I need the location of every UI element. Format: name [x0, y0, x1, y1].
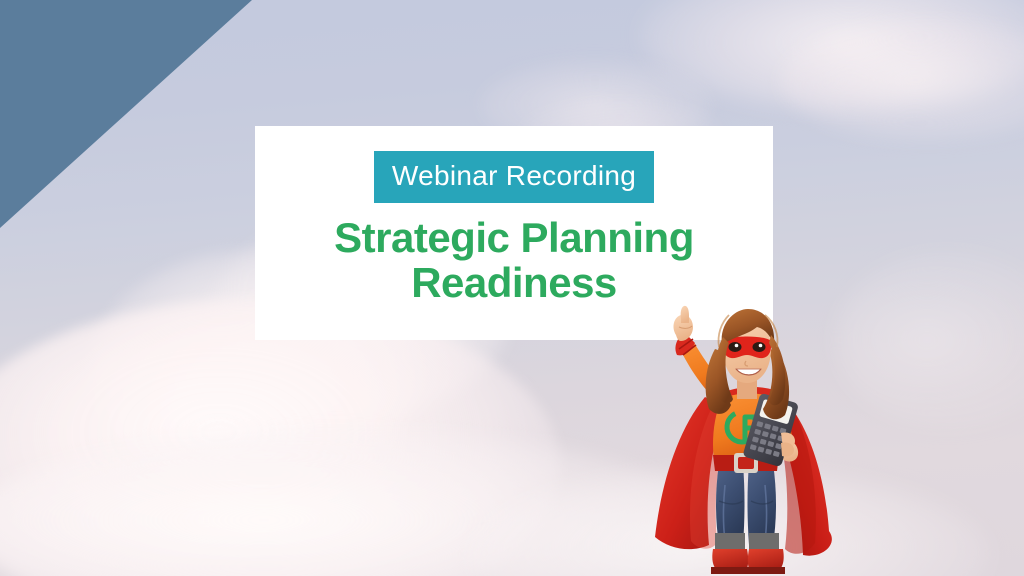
holding-arm [767, 403, 798, 462]
calculator-icon: 0 [742, 393, 799, 467]
neck [737, 375, 757, 399]
page-title: Strategic Planning Readiness [279, 215, 749, 306]
chest-logo [721, 406, 763, 448]
belt [713, 453, 779, 473]
torso-shirt [713, 393, 780, 467]
cloud-icon [780, 20, 1024, 140]
fingers [781, 432, 795, 456]
cloud-icon [640, 0, 1024, 110]
legs [716, 463, 776, 545]
cloud-icon [0, 300, 560, 576]
boots [711, 533, 785, 574]
corner-triangle-icon [0, 0, 252, 228]
slide-canvas: Webinar Recording Strategic Planning Rea… [0, 0, 1024, 576]
svg-text:0: 0 [774, 406, 785, 421]
cloud-icon [835, 250, 1024, 430]
cape [655, 387, 832, 556]
cloud-icon [0, 430, 720, 576]
hair-back [706, 347, 789, 419]
cloud-icon [470, 470, 990, 576]
webinar-recording-badge: Webinar Recording [374, 151, 654, 203]
superhero-character-illustration: 0 [643, 305, 853, 576]
title-card: Webinar Recording Strategic Planning Rea… [255, 126, 773, 340]
